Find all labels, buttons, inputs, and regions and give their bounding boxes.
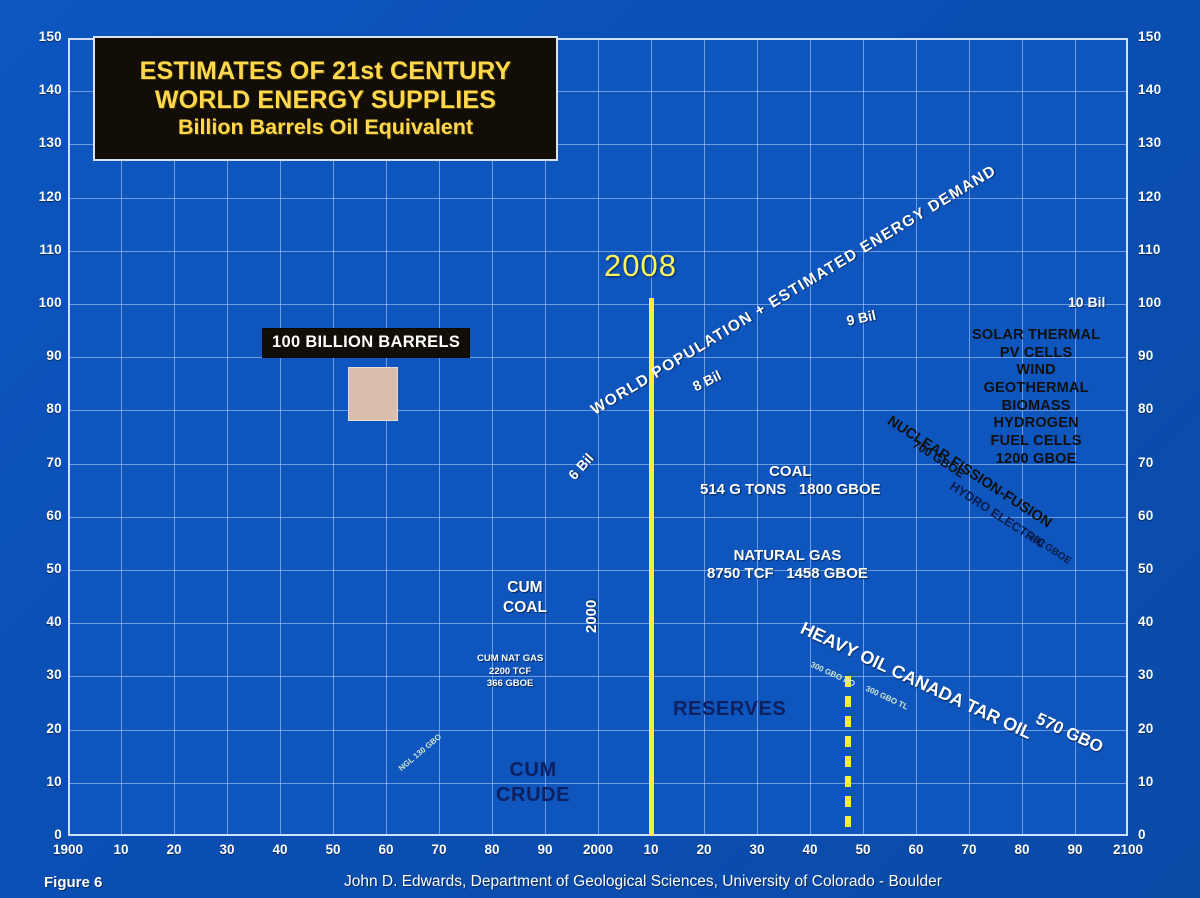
cum-crude-label: CUM CRUDE [496, 758, 570, 808]
y-tick-left: 90 [30, 348, 62, 363]
x-tick: 60 [886, 842, 946, 857]
y-tick-right: 130 [1138, 135, 1161, 150]
cum-nat-gas-label: CUM NAT GAS 2200 TCF 366 GBOE [477, 653, 543, 691]
y-tick-right: 70 [1138, 455, 1154, 470]
credit-line: John D. Edwards, Department of Geologica… [344, 873, 942, 891]
y-tick-right: 150 [1138, 29, 1161, 44]
y-tick-left: 150 [30, 29, 62, 44]
y-tick-right: 110 [1138, 242, 1161, 257]
x-tick: 20 [144, 842, 204, 857]
title-line-3: Billion Barrels Oil Equivalent [178, 115, 473, 140]
y-tick-left: 50 [30, 561, 62, 576]
y-tick-right: 60 [1138, 508, 1154, 523]
solar-renewables-label: SOLAR THERMAL PV CELLS WIND GEOTHERMAL B… [972, 327, 1100, 469]
y-tick-right: 120 [1138, 189, 1161, 204]
x-tick: 50 [303, 842, 363, 857]
year-2000-label: 2000 [583, 600, 601, 633]
scale-legend-text: 100 BILLION BARRELS [272, 333, 460, 351]
title-line-1: ESTIMATES OF 21st CENTURY [140, 57, 512, 86]
x-tick: 20 [674, 842, 734, 857]
y-tick-left: 140 [30, 82, 62, 97]
reserves-boundary-dashed-line [845, 676, 851, 836]
y-tick-right: 30 [1138, 667, 1154, 682]
title-line-2: WORLD ENERGY SUPPLIES [155, 86, 496, 115]
y-tick-left: 30 [30, 667, 62, 682]
x-tick: 2000 [568, 842, 628, 857]
x-tick: 40 [780, 842, 840, 857]
x-tick: 40 [250, 842, 310, 857]
y-tick-right: 90 [1138, 348, 1154, 363]
x-tick: 90 [515, 842, 575, 857]
y-tick-right: 50 [1138, 561, 1154, 576]
y-tick-left: 60 [30, 508, 62, 523]
chart-page: BILLION BARRELS OIL EQUIVALENT PER YEAR … [0, 0, 1200, 898]
x-tick: 60 [356, 842, 416, 857]
natural-gas-label: NATURAL GAS 8750 TCF 1458 GBOE [707, 547, 868, 584]
x-tick: 2100 [1098, 842, 1158, 857]
y-tick-left: 70 [30, 455, 62, 470]
y-tick-left: 110 [30, 242, 62, 257]
y-tick-left: 120 [30, 189, 62, 204]
x-tick: 70 [409, 842, 469, 857]
x-tick: 80 [462, 842, 522, 857]
y-tick-right: 40 [1138, 614, 1154, 629]
x-tick: 90 [1045, 842, 1105, 857]
x-tick: 1900 [38, 842, 98, 857]
figure-label: Figure 6 [44, 874, 102, 891]
scale-legend-label: 100 BILLION BARRELS [262, 328, 470, 358]
x-tick: 10 [621, 842, 681, 857]
y-tick-right: 100 [1138, 295, 1161, 310]
y-tick-left: 130 [30, 135, 62, 150]
y-tick-left: 100 [30, 295, 62, 310]
x-tick: 30 [197, 842, 257, 857]
y-tick-right: 80 [1138, 401, 1154, 416]
pop-marker-10bil: 10 Bil [1068, 294, 1105, 310]
y-tick-left: 0 [30, 827, 62, 842]
y-tick-left: 80 [30, 401, 62, 416]
x-tick: 80 [992, 842, 1052, 857]
y-tick-right: 140 [1138, 82, 1161, 97]
x-tick: 70 [939, 842, 999, 857]
cum-coal-label: CUM COAL [503, 578, 547, 618]
y-tick-right: 0 [1138, 827, 1146, 842]
scale-legend-swatch [348, 367, 398, 421]
y-tick-left: 10 [30, 774, 62, 789]
chart-title-box: ESTIMATES OF 21st CENTURY WORLD ENERGY S… [93, 36, 558, 161]
year-2008-label: 2008 [604, 248, 677, 284]
x-tick: 30 [727, 842, 787, 857]
y-tick-right: 20 [1138, 721, 1154, 736]
coal-label: COAL 514 G TONS 1800 GBOE [700, 463, 881, 500]
x-tick: 50 [833, 842, 893, 857]
y-tick-right: 10 [1138, 774, 1154, 789]
y-tick-left: 20 [30, 721, 62, 736]
y-tick-left: 40 [30, 614, 62, 629]
reserves-label: RESERVES [673, 697, 786, 721]
x-tick: 10 [91, 842, 151, 857]
